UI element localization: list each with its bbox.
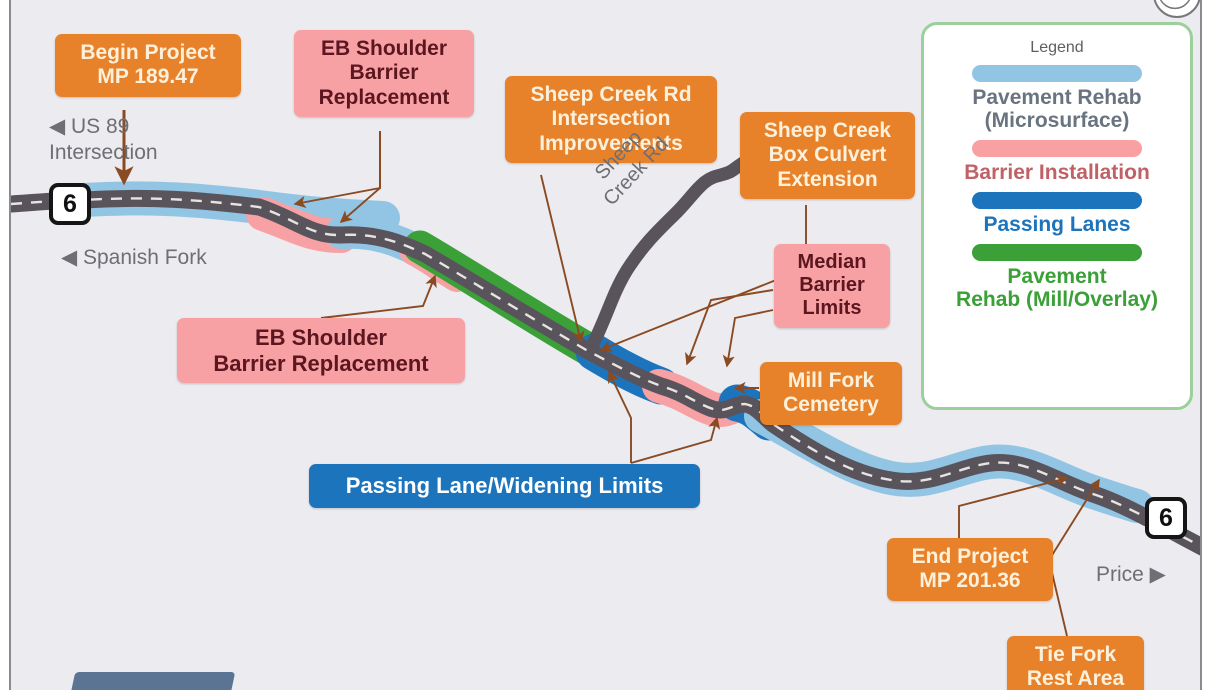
callout-sheep-creek-box-culvert[interactable]: Sheep Creek Box Culvert Extension [740, 112, 915, 199]
route-shield-us6-east: 6 [1145, 497, 1187, 539]
legend-swatch-passing-lanes [972, 192, 1142, 209]
legend-item-pavement-rehab-mill-overlay: Pavement Rehab (Mill/Overlay) [924, 244, 1190, 311]
direction-spanish-fork: ◀ Spanish Fork [61, 245, 207, 271]
callout-end-project[interactable]: End Project MP 201.36 [887, 538, 1053, 601]
callout-tie-fork-rest-area[interactable]: Tie Fork Rest Area [1007, 636, 1144, 690]
legend-label-passing-lanes: Passing Lanes [924, 213, 1190, 236]
legend-swatch-microsurface [972, 65, 1142, 82]
callout-eb-shoulder-barrier-lower[interactable]: EB Shoulder Barrier Replacement [177, 318, 465, 383]
callout-begin-project[interactable]: Begin Project MP 189.47 [55, 34, 241, 97]
callout-passing-lane-widening[interactable]: Passing Lane/Widening Limits [309, 464, 700, 508]
legend-title: Legend [924, 39, 1190, 57]
legend-label-microsurface: Pavement Rehab (Microsurface) [924, 86, 1190, 132]
slide-canvas: Begin Project MP 189.47 EB Shoulder Barr… [9, 0, 1202, 690]
callout-median-barrier-limits[interactable]: Median Barrier Limits [774, 244, 890, 328]
legend-label-barrier: Barrier Installation [924, 161, 1190, 184]
direction-us-89-intersection: ◀ US 89 Intersection [49, 114, 158, 165]
legend-item-pavement-rehab-microsurface: Pavement Rehab (Microsurface) [924, 65, 1190, 132]
legend-label-mill-overlay: Pavement Rehab (Mill/Overlay) [924, 265, 1190, 311]
legend-swatch-barrier [972, 140, 1142, 157]
route-shield-us6-west: 6 [49, 183, 91, 225]
agency-logo [67, 672, 236, 690]
direction-price: Price ▶ [1096, 562, 1166, 588]
callout-eb-shoulder-barrier-top[interactable]: EB Shoulder Barrier Replacement [294, 30, 474, 117]
callout-mill-fork-cemetery[interactable]: Mill Fork Cemetery [760, 362, 902, 425]
legend-item-barrier-installation: Barrier Installation [924, 140, 1190, 184]
legend-panel: Legend Pavement Rehab (Microsurface) Bar… [921, 22, 1193, 410]
legend-item-passing-lanes: Passing Lanes [924, 192, 1190, 236]
screenshot-root: Begin Project MP 189.47 EB Shoulder Barr… [0, 0, 1228, 690]
legend-swatch-mill-overlay [972, 244, 1142, 261]
